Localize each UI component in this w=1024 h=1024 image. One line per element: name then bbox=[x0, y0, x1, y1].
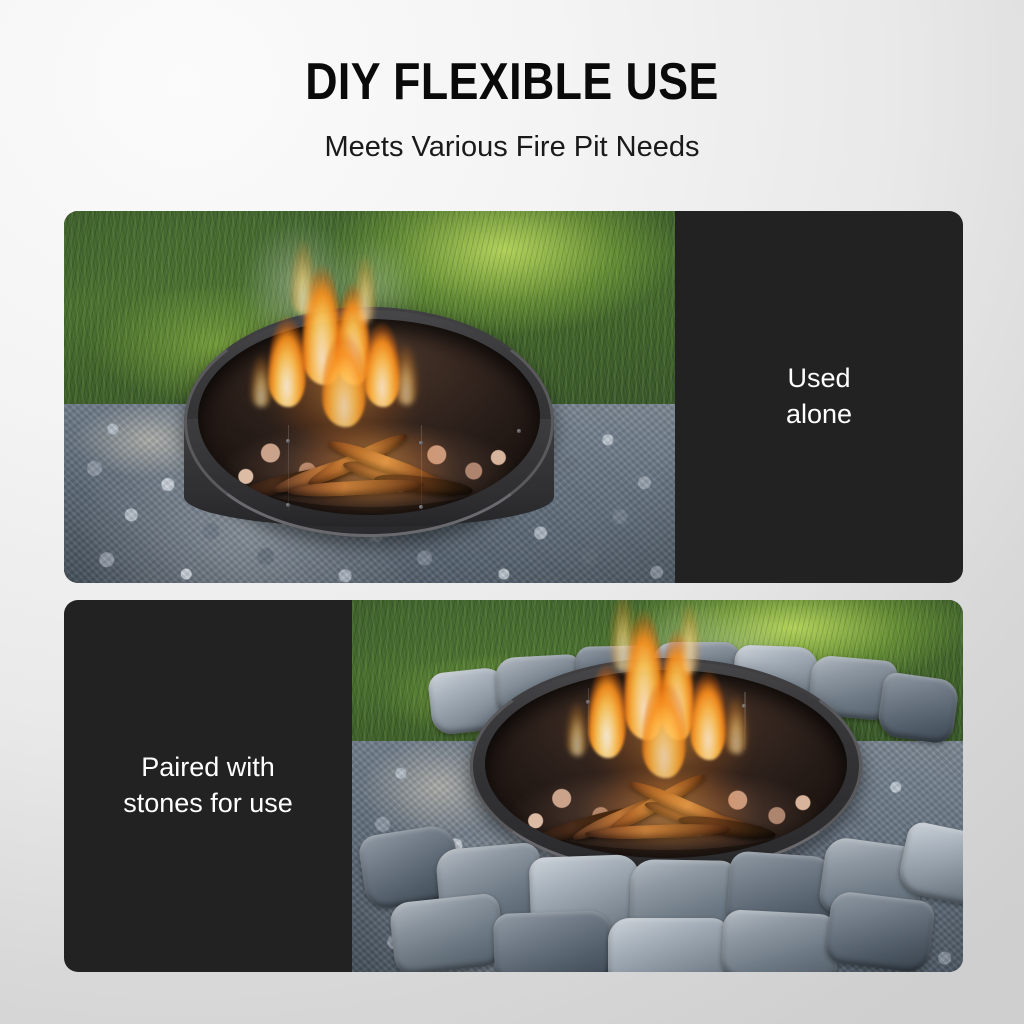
scene-gravel-yard bbox=[64, 211, 675, 583]
caption-panel-used-alone: Used alone bbox=[675, 211, 963, 583]
ring-bolt bbox=[419, 505, 423, 509]
stone bbox=[389, 892, 506, 972]
panel-paired-with-stones: Paired with stones for use bbox=[64, 600, 963, 972]
page-title: DIY FLEXIBLE USE bbox=[72, 56, 953, 108]
fire-glow bbox=[254, 331, 434, 441]
stone bbox=[720, 909, 840, 972]
header: DIY FLEXIBLE USE Meets Various Fire Pit … bbox=[0, 0, 1024, 162]
ring-bolt bbox=[419, 441, 423, 445]
scene-stone-fire-pit bbox=[352, 600, 963, 972]
page-subtitle: Meets Various Fire Pit Needs bbox=[0, 133, 1024, 162]
ember-glow bbox=[266, 433, 478, 503]
flame-wisp bbox=[610, 600, 636, 672]
photo-fire-ring-alone bbox=[64, 211, 675, 583]
photo-fire-ring-with-stones bbox=[352, 600, 963, 972]
ring-panel-seam bbox=[288, 425, 290, 511]
caption-panel-paired-with-stones: Paired with stones for use bbox=[64, 600, 352, 972]
stone bbox=[608, 918, 730, 972]
stone bbox=[824, 890, 936, 972]
stone bbox=[876, 671, 960, 745]
caption-text: Used alone bbox=[786, 361, 852, 433]
ring-panel-seam bbox=[421, 425, 423, 511]
ring-bolt bbox=[286, 503, 290, 507]
ring-bolt bbox=[286, 439, 290, 443]
flame-wisp bbox=[678, 600, 700, 674]
stone-surround-front bbox=[362, 812, 962, 972]
panel-used-alone: Used alone bbox=[64, 211, 963, 583]
caption-text: Paired with stones for use bbox=[123, 750, 293, 822]
stone bbox=[493, 910, 613, 972]
fire-glow bbox=[576, 680, 766, 790]
ring-bolt bbox=[517, 429, 521, 433]
